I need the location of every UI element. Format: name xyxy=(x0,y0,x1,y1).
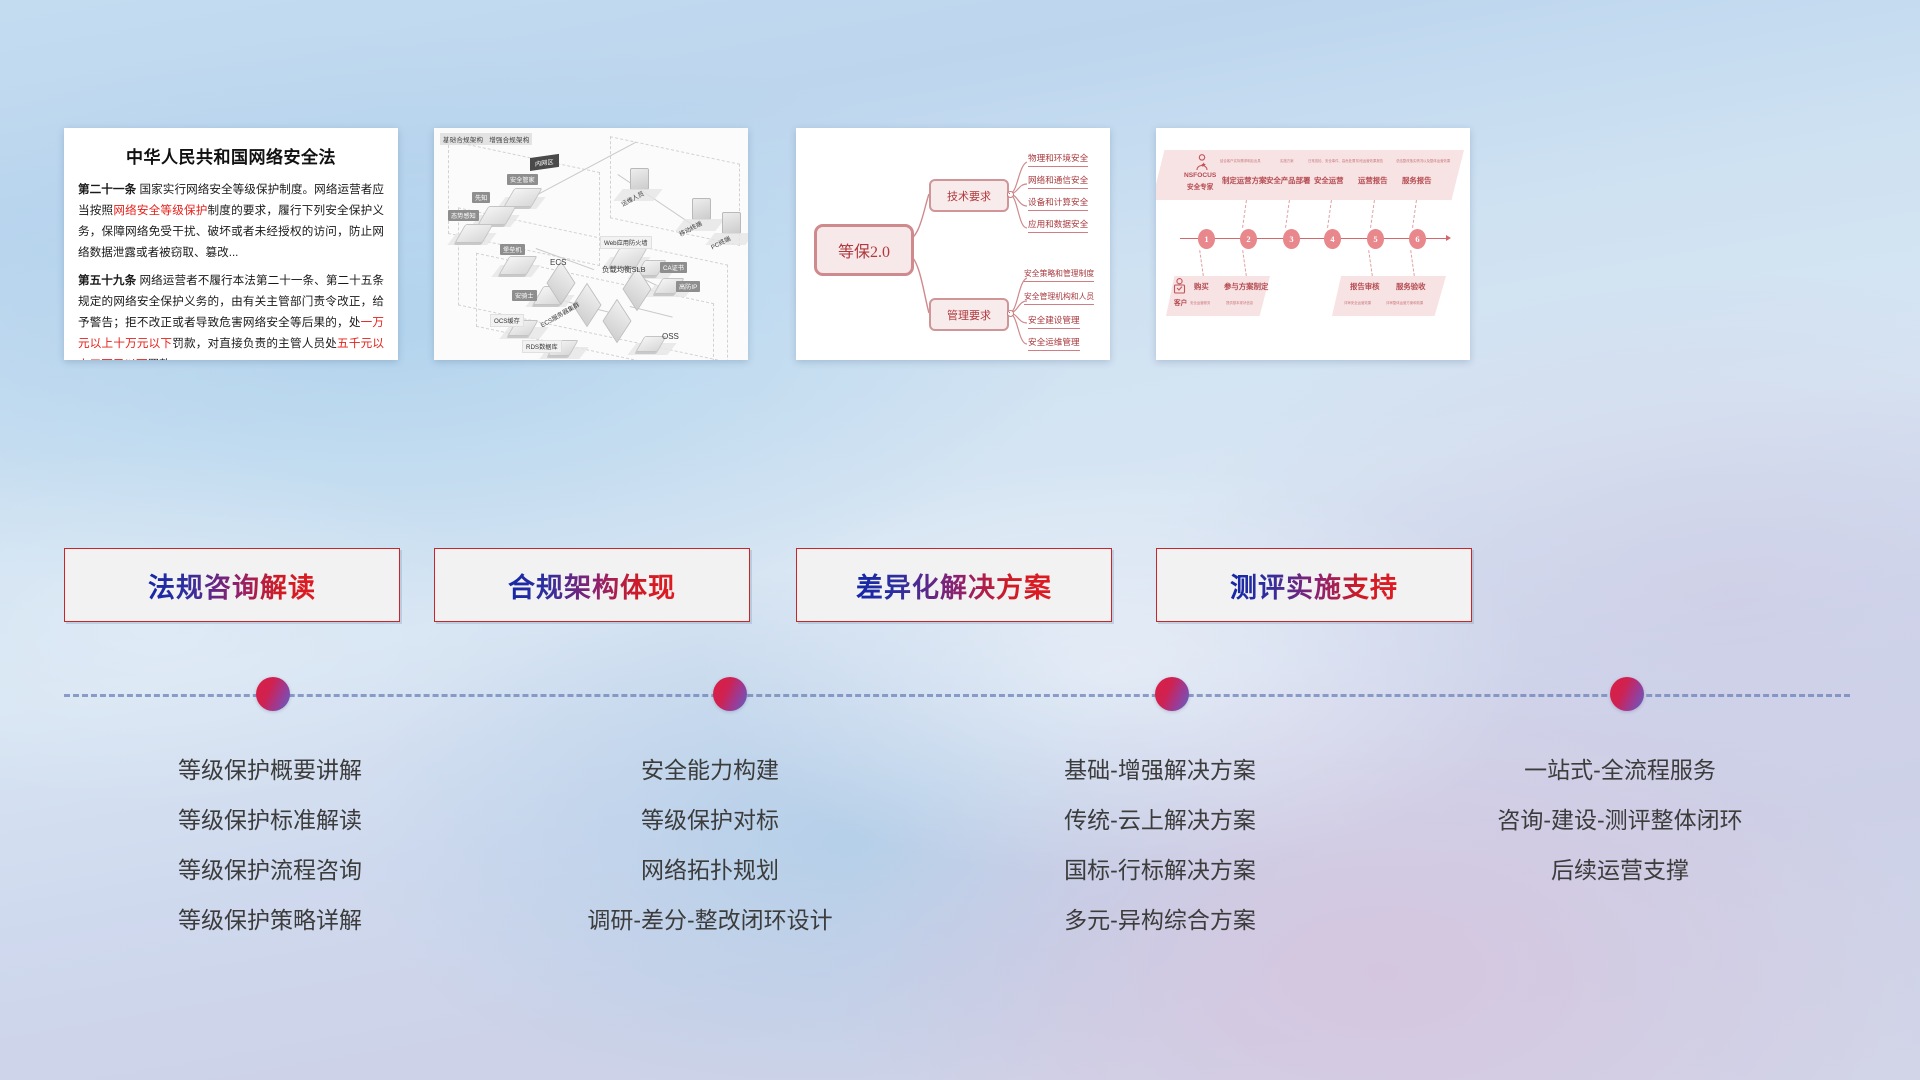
mindmap-card: 等保2.0 技术要求 物理和环境安全 网络和通信安全 设备和计算安全 应用和数据… xyxy=(796,128,1110,360)
section-title-4: 测评实施支持 xyxy=(1230,566,1398,605)
node-body xyxy=(630,168,649,190)
list-item: 多元-异构综合方案 xyxy=(930,895,1390,945)
timeline-marker-2[interactable] xyxy=(713,677,747,711)
node-mobile-terminal xyxy=(692,198,711,220)
tick-up-3 xyxy=(1285,200,1291,228)
node-body xyxy=(722,212,741,234)
list-item: 咨询-建设-测评整体闭环 xyxy=(1390,795,1850,845)
timeline-canvas: NSFOCUS 安全专家 客户 结合客户实际需求明后出具 制定运营方案 实施方案… xyxy=(1156,128,1470,360)
timeline-dashed-line xyxy=(64,694,1850,697)
section-title-box-2[interactable]: 合规架构体现 xyxy=(434,548,750,622)
section-title-box-1[interactable]: 法规咨询解读 xyxy=(64,548,400,622)
node-slb xyxy=(624,276,650,302)
mindmap-branch-technical[interactable]: 技术要求 xyxy=(929,179,1009,212)
timeline-marker-1[interactable] xyxy=(256,677,290,711)
tick-up-5 xyxy=(1370,200,1376,228)
tab-enhanced-architecture[interactable]: 增强合规架构 xyxy=(486,133,532,145)
top-title-2: 制定运营方案 xyxy=(1222,175,1266,186)
timeline-axis xyxy=(1180,238,1446,239)
timeline-step-2[interactable]: 2 xyxy=(1240,229,1257,249)
tick-up-6 xyxy=(1412,200,1418,228)
node-xianzhi xyxy=(483,206,511,225)
section-list-2: 安全能力构建 等级保护对标 网络拓扑规划 调研-差分-整改闭环设计 xyxy=(480,745,940,945)
bottom-title-6: 服务验收 xyxy=(1396,281,1426,292)
top-title-3: 安全产品部署 xyxy=(1266,175,1310,186)
top-sub-4: 日常巡检、安全事件、高危处置 xyxy=(1308,158,1355,163)
tick-down-1 xyxy=(1199,250,1205,276)
top-title-5: 运营报告 xyxy=(1358,175,1388,186)
mindmap-leaf-policy-system: 安全策略和管理制度 xyxy=(1024,268,1094,282)
mindmap-leaf-app-data: 应用和数据安全 xyxy=(1028,218,1088,233)
label-situation-awareness: 态势感知 xyxy=(448,210,479,221)
list-item: 后续运营支撑 xyxy=(1390,845,1850,895)
bottom-title-5: 报告审核 xyxy=(1350,281,1380,292)
timeline-arrow-icon xyxy=(1446,235,1451,241)
label-bastion-host: 堡垒机 xyxy=(500,244,525,255)
law-document-body: 中华人民共和国网络安全法 第二十一条 国家实行网络安全等级保护制度。网络运营者应… xyxy=(64,128,398,360)
list-item: 国标-行标解决方案 xyxy=(930,845,1390,895)
section-title-1: 法规咨询解读 xyxy=(148,566,316,605)
timeline-step-3[interactable]: 3 xyxy=(1283,229,1300,249)
node-ops-staff xyxy=(630,168,649,190)
bottom-sub-2: 提供基本现状信息 xyxy=(1226,300,1253,305)
section-title-box-4[interactable]: 测评实施支持 xyxy=(1156,548,1472,622)
list-item: 等级保护标准解读 xyxy=(40,795,500,845)
list-item: 等级保护流程咨询 xyxy=(40,845,500,895)
timeline-step-6[interactable]: 6 xyxy=(1409,229,1426,249)
label-anqishi: 安骑士 xyxy=(512,290,537,301)
section-title-box-3[interactable]: 差异化解决方案 xyxy=(796,548,1112,622)
node-body xyxy=(692,198,711,220)
list-item: 一站式-全流程服务 xyxy=(1390,745,1850,795)
law-article-21: 第二十一条 国家实行网络安全等级保护制度。网络运营者应当按照网络安全等级保护制度… xyxy=(78,179,384,263)
mindmap-leaf-construction-mgmt: 安全建设管理 xyxy=(1028,314,1080,329)
list-item: 等级保护策略详解 xyxy=(40,895,500,945)
mindmap-branch-management[interactable]: 管理要求 xyxy=(929,298,1009,331)
bottom-sub-1: 安全运营服务 xyxy=(1190,300,1210,305)
tick-down-5 xyxy=(1368,250,1374,276)
mindmap-leaf-physical-env: 物理和环境安全 xyxy=(1028,152,1088,167)
mindmap-leaf-ops-mgmt: 安全运维管理 xyxy=(1028,336,1080,351)
tick-down-2 xyxy=(1242,250,1248,276)
timeline-step-1[interactable]: 1 xyxy=(1198,229,1215,249)
mindmap-root-node[interactable]: 等保2.0 xyxy=(814,224,914,276)
timeline-marker-3[interactable] xyxy=(1155,677,1189,711)
top-sub-3: 实施方案 xyxy=(1280,158,1294,163)
bottom-sub-6: 评审整体运营方案和效果 xyxy=(1386,300,1423,305)
law-article-59: 第五十九条 网络运营者不履行本法第二十一条、第二十五条规定的网络安全保护义务的，… xyxy=(78,270,384,360)
bottom-title-1: 购买 xyxy=(1194,281,1209,292)
list-item: 基础-增强解决方案 xyxy=(930,745,1390,795)
label-ecs: ECS xyxy=(550,258,566,267)
label-ocs-cache: OCS缓存 xyxy=(490,314,524,327)
timeline-step-5[interactable]: 5 xyxy=(1367,229,1384,249)
bottom-title-2: 参与方案制定 xyxy=(1224,281,1268,292)
tick-up-4 xyxy=(1327,200,1333,228)
mindmap-leaf-device-compute: 设备和计算安全 xyxy=(1028,196,1088,211)
label-slb: 负载均衡SLB xyxy=(602,264,646,275)
customer-label: 客户 xyxy=(1174,297,1187,307)
label-anti-ddos-ip: 高防IP xyxy=(676,281,700,292)
list-item: 等级保护对标 xyxy=(480,795,940,845)
top-title-6: 服务报告 xyxy=(1402,175,1432,186)
mindmap-leaf-org-personnel: 安全管理机构和人员 xyxy=(1024,291,1094,305)
label-oss: OSS xyxy=(662,332,679,341)
section-title-3: 差异化解决方案 xyxy=(856,566,1052,605)
mindmap-leaf-network-comm: 网络和通信安全 xyxy=(1028,174,1088,189)
node-oss xyxy=(640,336,662,352)
tick-down-6 xyxy=(1410,250,1416,276)
law-article-21-highlight: 网络安全等级保护 xyxy=(113,204,207,217)
top-sub-5: 阶段运营效果报告 xyxy=(1356,158,1383,163)
architecture-diagram-card: 基础合规架构增强合规架构 内网区 安全管家 xyxy=(434,128,748,360)
label-security-butler: 安全管家 xyxy=(507,174,538,185)
law-document-card: 中华人民共和国网络安全法 第二十一条 国家实行网络安全等级保护制度。网络运营者应… xyxy=(64,128,398,360)
list-item: 传统-云上解决方案 xyxy=(930,795,1390,845)
expert-label-line2: 安全专家 xyxy=(1187,181,1213,191)
mindmap-canvas: 等保2.0 技术要求 物理和环境安全 网络和通信安全 设备和计算安全 应用和数据… xyxy=(796,128,1110,360)
node-security-butler xyxy=(509,188,537,207)
timeline-marker-4[interactable] xyxy=(1610,677,1644,711)
node-ecs-cluster-2 xyxy=(604,308,630,334)
timeline-step-4[interactable]: 4 xyxy=(1324,229,1341,249)
law-article-59-text-b: 罚款，对直接负责的主管人员处 xyxy=(172,337,337,350)
top-title-4: 安全运营 xyxy=(1314,175,1344,186)
law-article-59-text-c: 罚款。 xyxy=(148,358,183,360)
label-rds-database: RDS数据库 xyxy=(522,340,562,353)
mindmap-knob-technical[interactable] xyxy=(1007,191,1014,198)
law-article-59-label: 第五十九条 xyxy=(78,274,136,287)
section-title-2: 合规架构体现 xyxy=(508,566,676,605)
label-web-application-firewall: Web应用防火墙 xyxy=(600,236,652,249)
tick-up-2 xyxy=(1242,200,1248,228)
section-list-3: 基础-增强解决方案 传统-云上解决方案 国标-行标解决方案 多元-异构综合方案 xyxy=(930,745,1390,945)
node-pc-terminal xyxy=(722,212,741,234)
law-article-21-label: 第二十一条 xyxy=(78,183,136,196)
section-list-4: 一站式-全流程服务 咨询-建设-测评整体闭环 后续运营支撑 xyxy=(1390,745,1850,895)
list-item: 等级保护概要讲解 xyxy=(40,745,500,795)
label-xianzhi: 先知 xyxy=(472,192,490,203)
label-ca-certificate: CA证书 xyxy=(660,262,687,273)
service-timeline-card: NSFOCUS 安全专家 客户 结合客户实际需求明后出具 制定运营方案 实施方案… xyxy=(1156,128,1470,360)
node-situation-awareness xyxy=(460,224,488,243)
list-item: 安全能力构建 xyxy=(480,745,940,795)
top-sub-2: 结合客户实际需求明后出具 xyxy=(1220,158,1261,163)
expert-label-line1: NSFOCUS xyxy=(1184,172,1216,179)
node-ecs xyxy=(548,270,574,296)
list-item: 调研-差分-整改闭环设计 xyxy=(480,895,940,945)
section-list-1: 等级保护概要讲解 等级保护标准解读 等级保护流程咨询 等级保护策略详解 xyxy=(40,745,500,945)
architecture-canvas: 基础合规架构增强合规架构 内网区 安全管家 xyxy=(434,128,748,360)
node-bastion-host xyxy=(504,256,532,275)
bottom-sub-5: 评审安全运营效果 xyxy=(1344,300,1371,305)
list-item: 网络拓扑规划 xyxy=(480,845,940,895)
mindmap-knob-management[interactable] xyxy=(1007,310,1014,317)
top-sub-6: 总结整改落实情况以及整体运营效果 xyxy=(1396,158,1450,163)
law-title: 中华人民共和国网络安全法 xyxy=(78,143,384,168)
